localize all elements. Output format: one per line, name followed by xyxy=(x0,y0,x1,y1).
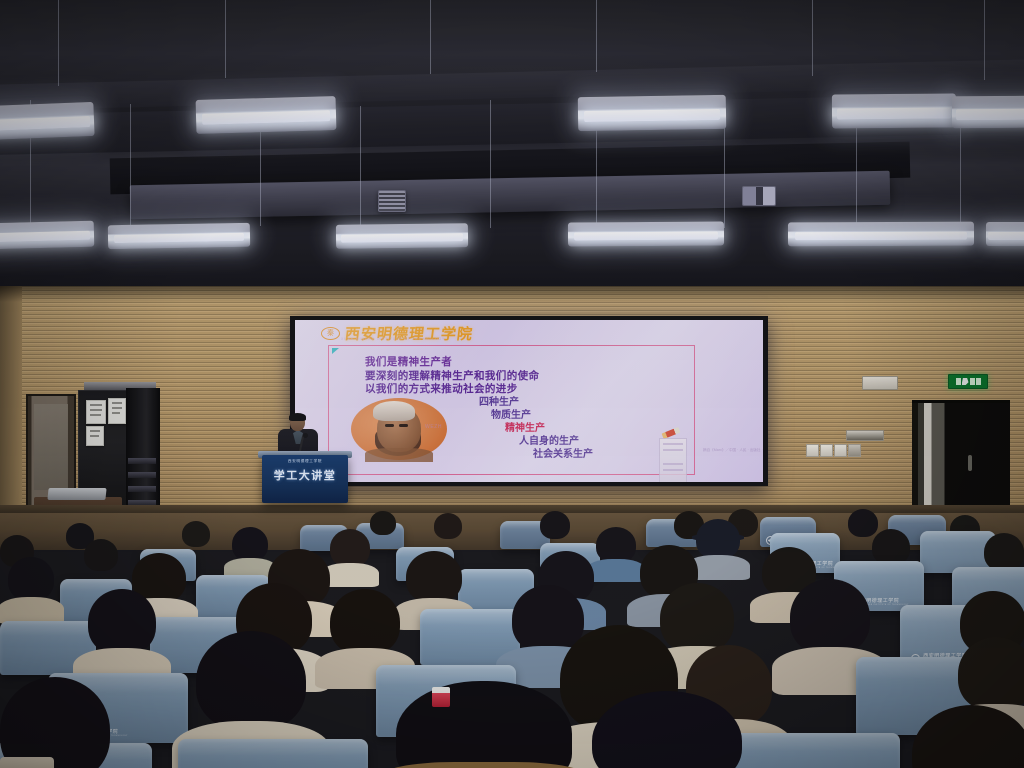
slide-watermark: WEZH xyxy=(425,424,442,430)
audience-member xyxy=(370,511,396,535)
university-name-en: XI'AN MINGDE INSTITUTE OF TECHNOLOGY xyxy=(341,337,445,341)
ceiling-light-fixture xyxy=(0,102,95,140)
rack-label-notice xyxy=(86,400,106,424)
ceiling-light-fixture xyxy=(578,95,727,131)
side-door-right[interactable] xyxy=(912,400,1010,521)
podium-title: 学工大讲堂 xyxy=(262,467,348,483)
lecture-hall-photo: 秦 西安明德理工学院 XI'AN MINGDE INSTITUTE OF TEC… xyxy=(0,0,1024,768)
slide-content-box: 我们是精神生产者 要深刻的理解精神生产和我们的使命 以我们的方式来推动社会的进步… xyxy=(328,345,695,475)
audience-member xyxy=(912,705,1024,768)
rack-label-procedure xyxy=(108,398,126,424)
audience-member xyxy=(596,527,636,563)
white-lid xyxy=(432,687,450,693)
slide-statement-line-3: 以我们的方式来推动社会的进步 xyxy=(365,383,675,397)
audience-member xyxy=(330,529,370,567)
audience-member xyxy=(8,557,54,601)
slide-list-heading: 四种生产 xyxy=(479,396,689,409)
light-switch[interactable] xyxy=(806,444,819,457)
audience-member xyxy=(406,551,462,603)
laptop-icon xyxy=(47,488,106,500)
light-switch[interactable] xyxy=(820,444,833,457)
audience-area: 西安明德理工学院 西安明德理工学院 XI'AN MINGDE INSTITUTE… xyxy=(0,505,1024,768)
air-vent-icon xyxy=(378,190,406,212)
wall-top-shadow xyxy=(0,286,1024,302)
wall-left-edge xyxy=(0,286,22,541)
ceiling-light-fixture xyxy=(986,222,1024,246)
red-item-on-seat xyxy=(432,691,450,707)
podium-logo-text: 西安明德理工学院 xyxy=(262,459,348,464)
ceiling-light-fixture xyxy=(788,222,974,247)
audience-member xyxy=(790,579,870,655)
slide-list-item: 物质生产 xyxy=(491,409,689,422)
audience-member xyxy=(434,513,462,539)
door-handle-icon xyxy=(968,455,972,471)
light-switch[interactable] xyxy=(848,444,861,457)
ceiling-light-fixture xyxy=(108,223,250,249)
audience-member xyxy=(84,539,118,571)
projection-screen: 秦 西安明德理工学院 XI'AN MINGDE INSTITUTE OF TEC… xyxy=(295,320,763,482)
podium: 西安明德理工学院 学工大讲堂 xyxy=(262,455,348,503)
slide-statement-line-1: 我们是精神生产者 xyxy=(365,356,675,370)
book-thumbnail xyxy=(659,438,687,482)
wall-outlet-plate xyxy=(846,430,884,441)
seat[interactable]: 西安明德理工学院 XI'AN MINGDE INSTITUTE OF TECHN… xyxy=(178,739,368,768)
light-switch[interactable] xyxy=(834,444,847,457)
audience-member xyxy=(540,511,570,539)
slide-statement: 我们是精神生产者 要深刻的理解精神生产和我们的使命 以我们的方式来推动社会的进步 xyxy=(365,356,675,397)
rack-label-id xyxy=(86,426,104,446)
exit-sign xyxy=(948,374,988,389)
audience-member xyxy=(872,529,910,565)
audience-member xyxy=(592,691,742,768)
audience-member xyxy=(958,637,1024,711)
phone-in-hand xyxy=(0,757,54,768)
ceiling-light-fixture xyxy=(832,93,956,128)
ceiling-light-fixture xyxy=(568,221,724,246)
ceiling-light-fixture xyxy=(196,96,337,134)
microphone-icon xyxy=(303,433,308,438)
audience-member xyxy=(88,589,156,655)
projector-control-panel[interactable] xyxy=(862,376,898,390)
ceiling-speaker-icon xyxy=(742,186,776,206)
university-seal-icon: 秦 xyxy=(321,327,340,340)
ceiling-light-fixture xyxy=(336,223,468,249)
ceiling-light-fixture xyxy=(0,221,94,250)
audience-member-with-cap xyxy=(696,519,740,559)
slide-credit: 摘自《Marx》／中国 · 人民 · 出版社 · 资料 xyxy=(703,448,763,453)
audience-member xyxy=(984,533,1024,571)
slide-statement-line-2: 要深刻的理解精神生产和我们的使命 xyxy=(365,370,675,384)
slide-corner-triangle-icon xyxy=(332,348,339,354)
ceiling-light-fixture xyxy=(952,96,1024,129)
audience-member xyxy=(232,527,268,561)
audience-member xyxy=(330,589,400,655)
audience-member xyxy=(196,631,306,731)
ceiling xyxy=(0,0,1024,300)
slide-list: 四种生产 物质生产 精神生产 人自身的生产 社会关系生产 xyxy=(449,396,689,461)
audience-member-foreground xyxy=(396,681,572,768)
audience-member xyxy=(0,677,110,768)
audience-member xyxy=(182,521,210,547)
